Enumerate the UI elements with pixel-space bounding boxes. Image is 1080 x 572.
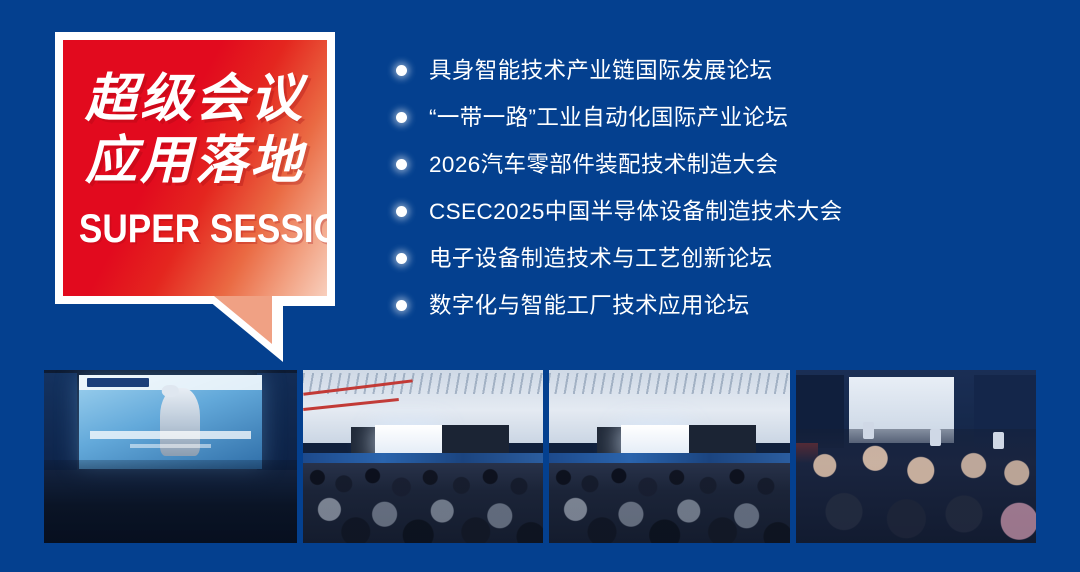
photo3-audience-heads [549, 463, 790, 543]
photo3-truss [549, 373, 790, 394]
logo-chinese-line-1: 超级会议 [63, 68, 327, 130]
photo1-audience [44, 460, 297, 543]
bullet-dot-icon [396, 253, 407, 264]
photo2-back-wall [442, 425, 509, 456]
bullet-dot-icon [396, 300, 407, 311]
list-item: 具身智能技术产业链国际发展论坛 [396, 47, 1036, 94]
photo1-screen-logo [87, 378, 149, 387]
forum-item-label: 电子设备制造技术与工艺创新论坛 [429, 246, 773, 272]
list-item: CSEC2025中国半导体设备制造技术大会 [396, 188, 1036, 235]
photo4-phone-icon-1 [863, 422, 874, 439]
forum-item-label: “一带一路”工业自动化国际产业论坛 [429, 105, 788, 131]
event-photo-strip [44, 370, 1036, 543]
bullet-dot-icon [396, 206, 407, 217]
photo2-hall [303, 370, 543, 543]
photo1-slide-title-bar [90, 431, 250, 438]
photo-conference-session-crowd [549, 370, 790, 543]
list-item: 电子设备制造技术与工艺创新论坛 [396, 235, 1036, 282]
super-session-poster: 超级会议 应用落地 SUPER SESSION 具身智能技术产业链国际发展论坛 … [0, 0, 1080, 572]
photo1-left-panel [44, 373, 77, 470]
photo2-audience-heads [303, 463, 543, 543]
bullet-dot-icon [396, 159, 407, 170]
super-session-logo-card: 超级会议 应用落地 SUPER SESSION [55, 32, 335, 304]
list-item: “一带一路”工业自动化国际产业论坛 [396, 94, 1036, 141]
logo-card-gradient-panel: 超级会议 应用落地 SUPER SESSION [63, 40, 327, 296]
photo1-right-panel [257, 373, 297, 470]
photo3-back-wall [689, 425, 756, 456]
speech-bubble-tail-notch [272, 296, 335, 306]
list-item: 2026汽车零部件装配技术制造大会 [396, 141, 1036, 188]
photo4-phone-icon-2 [930, 429, 941, 446]
photo1-robot-head [162, 385, 178, 397]
photo-audience-taking-photos [796, 370, 1036, 543]
logo-text-block: 超级会议 应用落地 SUPER SESSION [63, 68, 327, 252]
forum-item-label: 具身智能技术产业链国际发展论坛 [429, 58, 773, 84]
forum-list: 具身智能技术产业链国际发展论坛 “一带一路”工业自动化国际产业论坛 2026汽车… [396, 47, 1036, 329]
bullet-dot-icon [396, 65, 407, 76]
forum-item-label: CSEC2025中国半导体设备制造技术大会 [429, 199, 842, 225]
list-item: 数字化与智能工厂技术应用论坛 [396, 282, 1036, 329]
logo-chinese-line-2: 应用落地 [63, 130, 327, 192]
forum-item-label: 数字化与智能工厂技术应用论坛 [429, 293, 750, 319]
photo1-presentation-screen [79, 375, 261, 468]
logo-english-line: SUPER SESSION [79, 206, 311, 252]
photo1-slide-subtitle-bar [130, 444, 210, 448]
speech-bubble-tail-fill [214, 296, 272, 344]
photo4-phone-icon-3 [993, 432, 1004, 449]
photo-humanoid-robot-keynote [44, 370, 297, 543]
bullet-dot-icon [396, 112, 407, 123]
photo-exhibition-hall-wide [303, 370, 543, 543]
forum-item-label: 2026汽车零部件装配技术制造大会 [429, 152, 778, 178]
photo3-hall [549, 370, 790, 543]
